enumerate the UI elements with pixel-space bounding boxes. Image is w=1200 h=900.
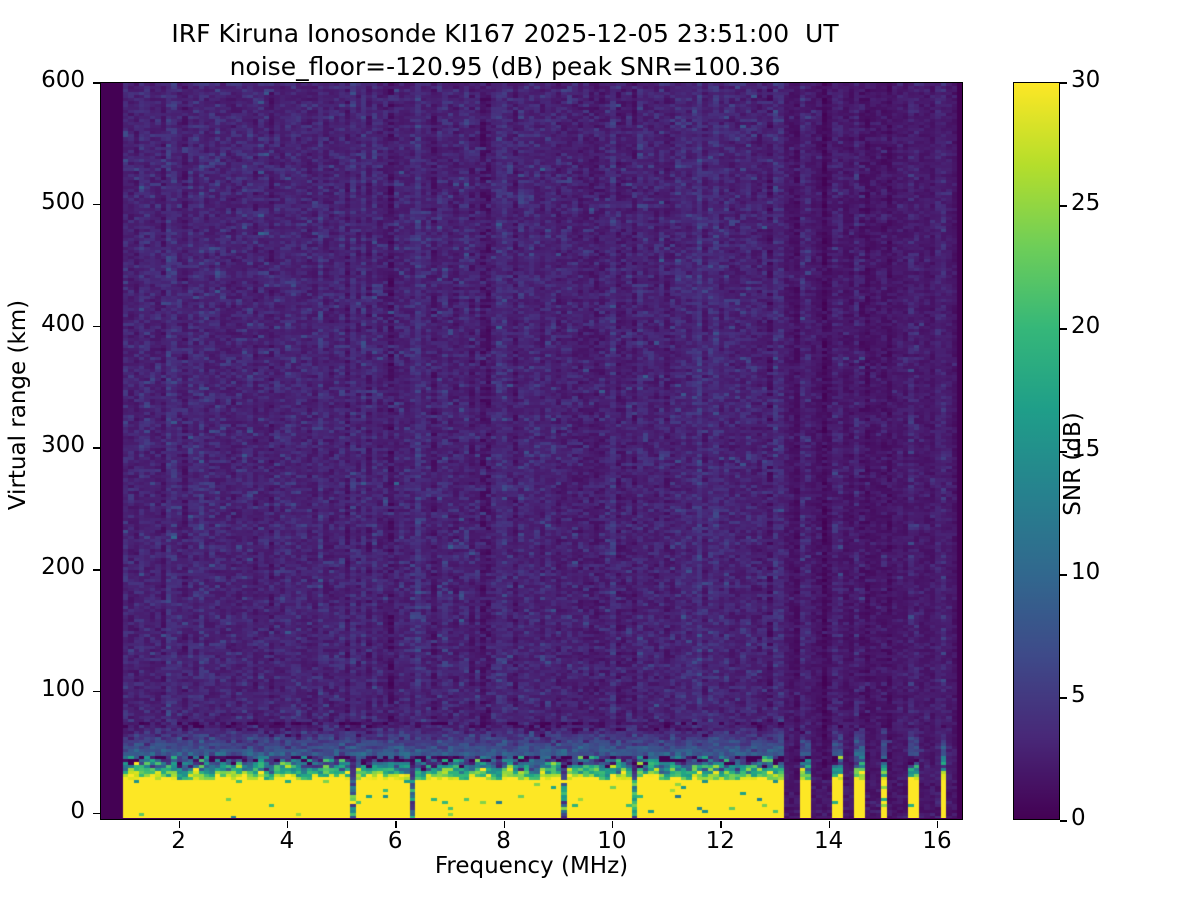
x-tick-mark bbox=[395, 821, 397, 828]
y-tick-mark bbox=[93, 691, 100, 693]
ionogram-heatmap bbox=[101, 83, 961, 818]
x-tick-label: 4 bbox=[247, 828, 327, 854]
plot-title: IRF Kiruna Ionosonde KI167 2025-12-05 23… bbox=[0, 18, 1010, 83]
x-tick-mark bbox=[829, 821, 831, 828]
x-tick-mark bbox=[179, 821, 181, 828]
x-tick-mark bbox=[287, 821, 289, 828]
x-tick-label: 8 bbox=[464, 828, 544, 854]
x-tick-mark bbox=[612, 821, 614, 828]
y-tick-mark bbox=[93, 326, 100, 328]
x-tick-label: 10 bbox=[572, 828, 652, 854]
ionogram-figure: IRF Kiruna Ionosonde KI167 2025-12-05 23… bbox=[0, 0, 1200, 900]
x-axis-label: Frequency (MHz) bbox=[100, 853, 963, 879]
x-tick-label: 14 bbox=[789, 828, 869, 854]
colorbar-tick-mark bbox=[1060, 697, 1067, 699]
colorbar-tick-mark bbox=[1060, 205, 1067, 207]
colorbar-tick-mark bbox=[1060, 82, 1067, 84]
x-tick-label: 2 bbox=[139, 828, 219, 854]
colorbar-tick-label: 25 bbox=[1071, 190, 1100, 216]
x-tick-mark bbox=[937, 821, 939, 828]
ionogram-axes bbox=[100, 82, 963, 820]
snr-colorbar bbox=[1013, 82, 1060, 820]
x-tick-mark bbox=[720, 821, 722, 828]
x-tick-mark bbox=[504, 821, 506, 828]
colorbar-label: SNR (dB) bbox=[1060, 324, 1086, 604]
y-tick-mark bbox=[93, 82, 100, 84]
y-tick-mark bbox=[93, 204, 100, 206]
colorbar-tick-label: 5 bbox=[1071, 682, 1086, 708]
y-tick-mark bbox=[93, 447, 100, 449]
y-tick-mark bbox=[93, 569, 100, 571]
colorbar-tick-mark bbox=[1060, 820, 1067, 822]
x-tick-label: 6 bbox=[355, 828, 435, 854]
y-axis-label: Virtual range (km) bbox=[5, 125, 31, 685]
y-tick-mark bbox=[93, 813, 100, 815]
x-tick-label: 16 bbox=[897, 828, 977, 854]
title-line-2: noise_floor=-120.95 (dB) peak SNR=100.36 bbox=[0, 51, 1010, 84]
colorbar-gradient bbox=[1014, 83, 1059, 819]
colorbar-tick-label: 30 bbox=[1071, 67, 1100, 93]
title-line-1: IRF Kiruna Ionosonde KI167 2025-12-05 23… bbox=[0, 18, 1010, 51]
y-tick-label: 600 bbox=[0, 67, 85, 93]
colorbar-tick-label: 0 bbox=[1071, 805, 1086, 831]
x-tick-label: 12 bbox=[680, 828, 760, 854]
y-tick-label: 0 bbox=[0, 798, 85, 824]
